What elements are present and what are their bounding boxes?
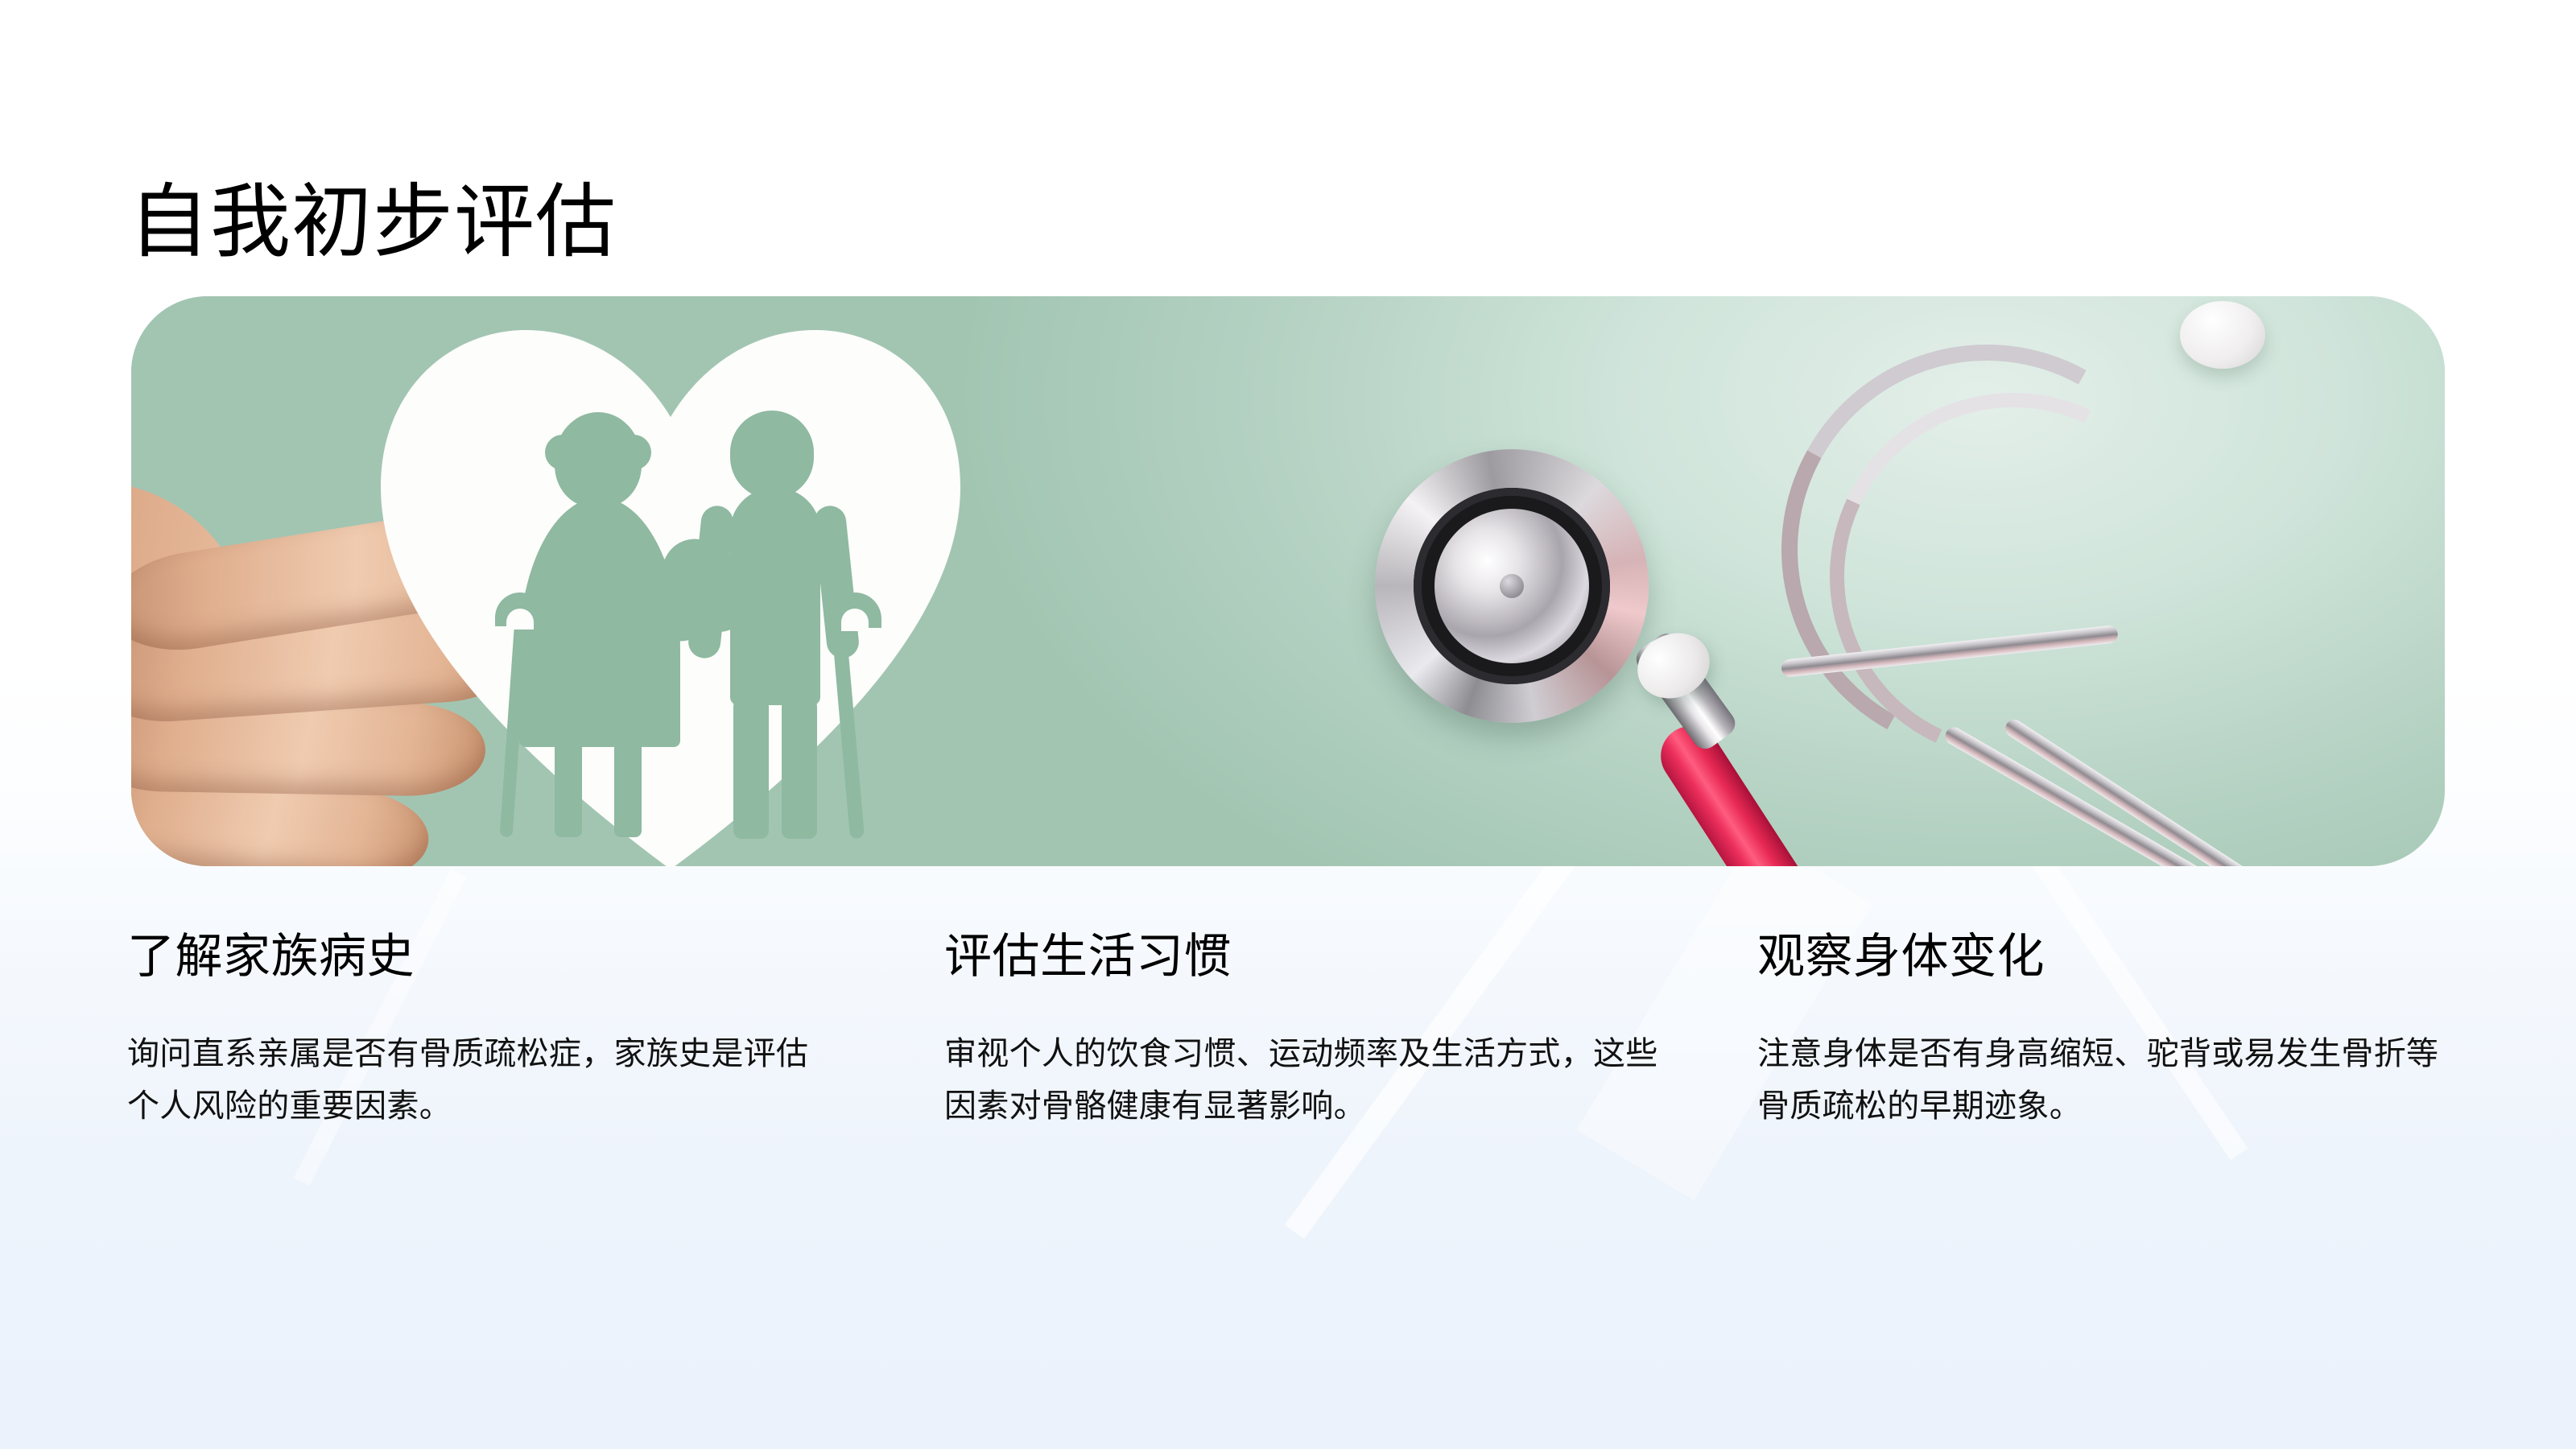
- column-heading: 评估生活习惯: [944, 927, 1669, 986]
- column-heading: 观察身体变化: [1757, 927, 2482, 986]
- man-head-cutout: [730, 411, 814, 499]
- slide-root: 自我初步评估: [0, 0, 2576, 1449]
- woman-leg-cutout: [614, 733, 642, 837]
- column-body-text: 询问直系亲属是否有骨质疏松症，家族史是评估个人风险的重要因素。: [127, 1028, 836, 1133]
- page-title: 自我初步评估: [129, 173, 617, 271]
- column-lifestyle-habits: 评估生活习惯 审视个人的饮食习惯、运动频率及生活方式，这些因素对骨骼健康有显著影…: [944, 927, 1669, 1133]
- paper-heart-cutout: [373, 314, 968, 866]
- man-leg-cutout: [782, 692, 817, 839]
- column-body-changes: 观察身体变化 注意身体是否有身高缩短、驼背或易发生骨折等骨质疏松的早期迹象。: [1757, 927, 2482, 1133]
- woman-head-cutout: [555, 412, 642, 507]
- woman-leg-cutout: [555, 733, 582, 837]
- column-heading: 了解家族病史: [127, 927, 852, 986]
- column-body-text: 审视个人的饮食习惯、运动频率及生活方式，这些因素对骨骼健康有显著影响。: [944, 1028, 1661, 1133]
- stethoscope-diaphragm-center: [1500, 574, 1524, 598]
- man-leg-cutout: [733, 692, 769, 839]
- column-body-text: 注意身体是否有身高缩短、驼背或易发生骨折等骨质疏松的早期迹象。: [1757, 1028, 2466, 1133]
- hero-image-card: [131, 296, 2445, 866]
- stethoscope-eartip: [2180, 301, 2265, 369]
- column-family-history: 了解家族病史 询问直系亲属是否有骨质疏松症，家族史是评估个人风险的重要因素。: [127, 927, 852, 1133]
